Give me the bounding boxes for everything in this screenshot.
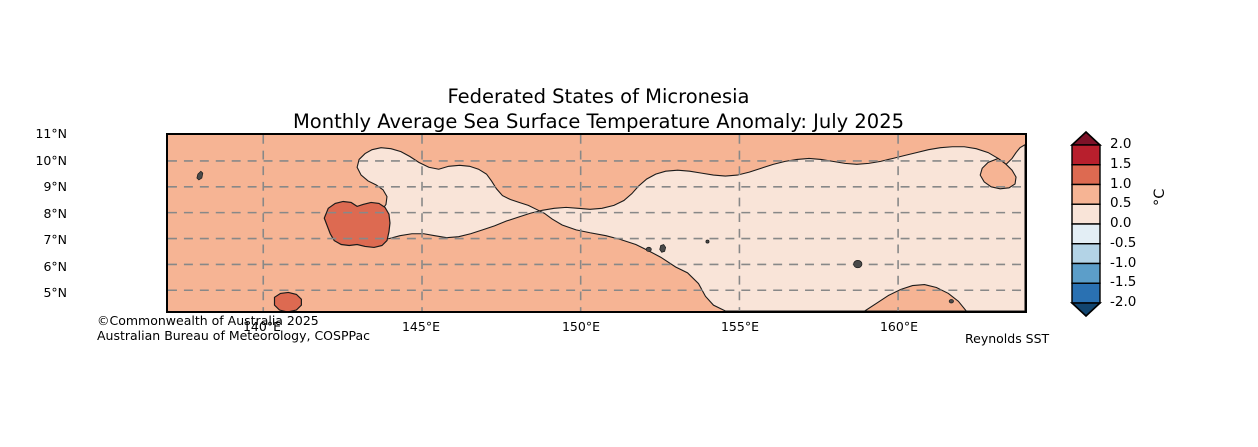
lat-label-10n: 10°N [35,155,67,167]
colorbar-band-6 [1072,244,1100,264]
lat-label-6n: 6°N [43,261,67,273]
colorbar-axis-title: °C [1152,189,1168,206]
data-source-credit: Reynolds SST [965,331,1049,346]
colorbar-band-5 [1072,224,1100,244]
colorbar-band-8 [1072,283,1100,303]
island-ulithi [949,299,953,303]
colorbar-band-1 [1072,145,1100,165]
lat-label-9n: 9°N [43,181,67,193]
island-pohnpei [706,240,709,243]
colorbar-tick-1-5: 1.5 [1110,158,1131,171]
title-line-region: Federated States of Micronesia [0,84,1197,109]
lon-label-160e: 160°E [866,321,932,333]
map-plot-area[interactable] [166,133,1027,313]
colorbar-band-2 [1072,165,1100,185]
colorbar-tick-neg-1-5: -1.5 [1110,276,1136,289]
island-chuuk-b [660,245,666,253]
lat-label-7n: 7°N [43,234,67,246]
lon-label-150e: 150°E [548,321,614,333]
copyright-attribution: ©Commonwealth of Australia 2025 Australi… [97,314,370,343]
colorbar-tick-0-5: 0.5 [1110,197,1131,210]
lat-label-8n: 8°N [43,208,67,220]
chart-title: Federated States of Micronesia Monthly A… [0,84,1197,134]
anomaly-band-warm-core [324,201,390,247]
title-line-subject: Monthly Average Sea Surface Temperature … [0,109,1197,134]
attribution-line-copyright: ©Commonwealth of Australia 2025 [97,314,370,329]
colorbar-over-arrow [1072,132,1100,145]
colorbar-tick-1-0: 1.0 [1110,178,1131,191]
lat-label-11n: 11°N [35,128,67,140]
attribution-line-agency: Australian Bureau of Meteorology, COSPPa… [97,329,370,344]
colorbar-tick-neg-0-5: -0.5 [1110,237,1136,250]
sst-anomaly-map [168,135,1025,311]
colorbar-tick-0-0: 0.0 [1110,217,1131,230]
colorbar-under-arrow [1072,303,1100,316]
colorbar-band-4 [1072,204,1100,224]
colorbar-swatches [1066,128,1106,320]
island-kosrae [854,260,862,267]
lon-label-145e: 145°E [388,321,454,333]
island-chuuk-a [646,247,651,251]
colorbar[interactable] [1066,128,1106,320]
colorbar-tick-neg-1-0: -1.0 [1110,257,1136,270]
colorbar-tick-2-0: 2.0 [1110,138,1131,151]
colorbar-band-3 [1072,185,1100,205]
lat-label-5n: 5°N [43,287,67,299]
colorbar-tick-neg-2-0: -2.0 [1110,296,1136,309]
anomaly-band-warm-blob-southwest [275,292,302,311]
lon-label-155e: 155°E [707,321,773,333]
colorbar-band-7 [1072,264,1100,284]
